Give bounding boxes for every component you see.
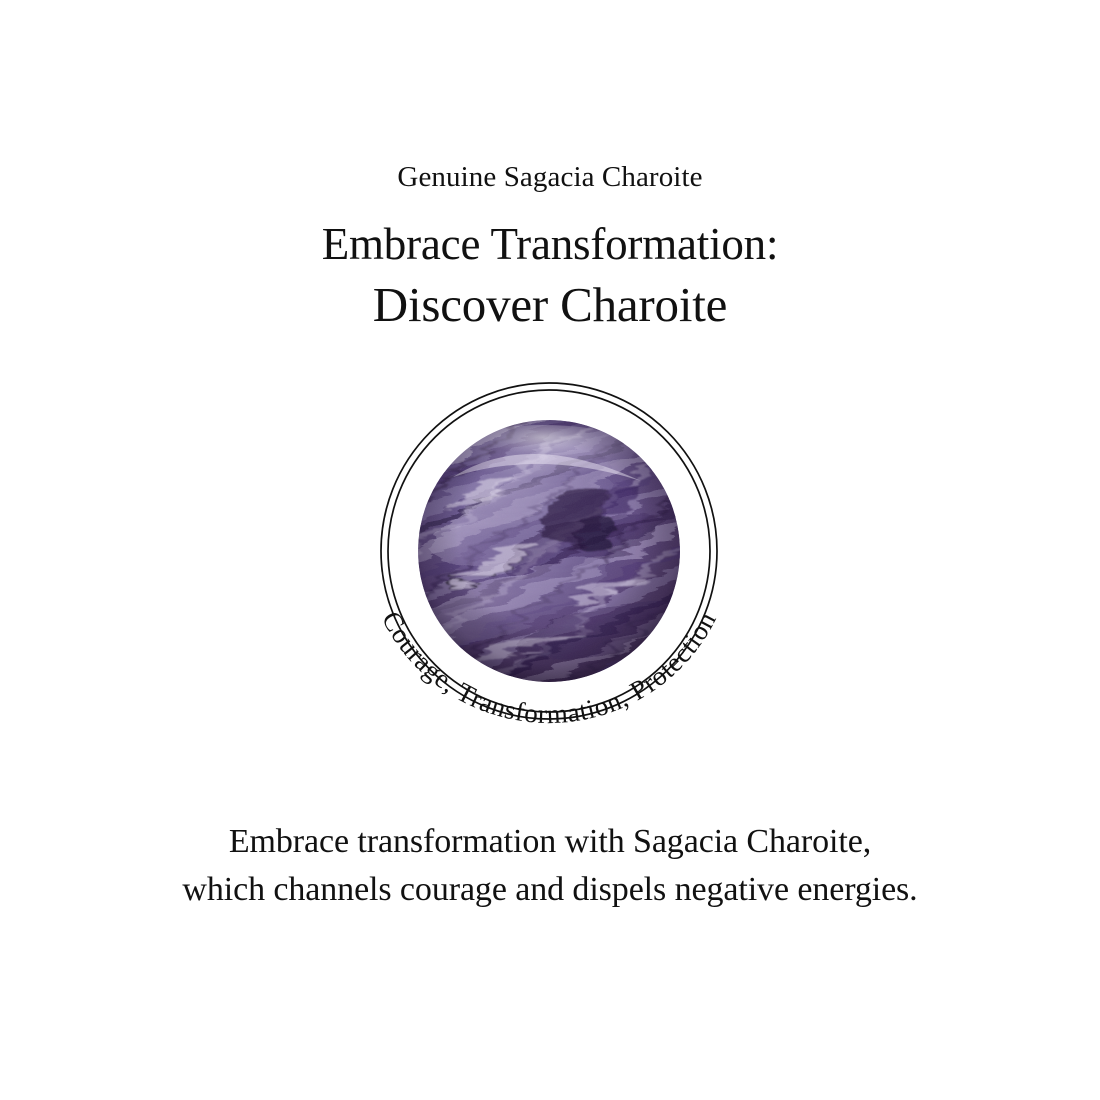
product-card: Genuine Sagacia Charoite Embrace Transfo… — [0, 0, 1100, 1100]
tagline-block: Embrace transformation with Sagacia Char… — [0, 818, 1100, 915]
tagline-line-1: Embrace transformation with Sagacia Char… — [0, 818, 1100, 866]
tagline-line-2: which channels courage and dispels negat… — [0, 866, 1100, 914]
headline-line-1: Embrace Transformation: — [322, 219, 779, 269]
eyebrow-text: Genuine Sagacia Charoite — [0, 0, 1100, 192]
badge-svg: Courage, Transformation, Protection — [274, 276, 824, 826]
stone-vignette — [418, 420, 680, 682]
